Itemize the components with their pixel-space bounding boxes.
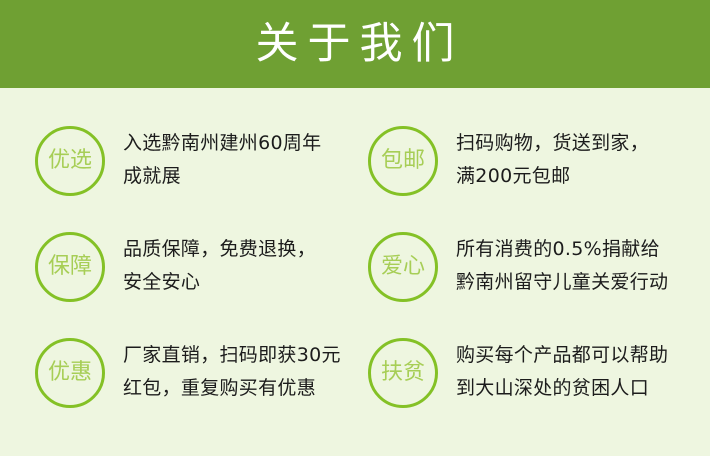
- feature-item-youhui: 优惠 厂家直销，扫码即获30元 红包，重复购买有优惠: [0, 334, 355, 440]
- feature-item-youxuan: 优选 入选黔南州建州60周年 成就展: [0, 122, 355, 228]
- feature-description-line: 扫码购物，货送到家，: [456, 127, 710, 160]
- feature-description-line: 入选黔南州建州60周年: [123, 127, 355, 160]
- feature-description-line: 满200元包邮: [456, 160, 710, 193]
- feature-description-line: 厂家直销，扫码即获30元: [123, 339, 355, 372]
- page-title: 关于我们: [247, 23, 464, 66]
- feature-description-line: 到大山深处的贫困人口: [456, 372, 710, 405]
- feature-grid: 优选 入选黔南州建州60周年 成就展 包邮 扫码购物，货送到家， 满200元包邮…: [0, 88, 710, 456]
- feature-description-line: 所有消费的0.5%捐献给: [456, 233, 710, 266]
- badge-label: 保障: [48, 256, 92, 278]
- badge-label: 优选: [48, 150, 92, 172]
- badge-label: 扶贫: [381, 362, 425, 384]
- feature-description: 品质保障，免费退换， 安全安心: [123, 233, 355, 299]
- feature-description: 购买每个产品都可以帮助 到大山深处的贫困人口: [456, 339, 710, 405]
- feature-description-line: 品质保障，免费退换，: [123, 233, 355, 266]
- feature-description-line: 黔南州留守儿童关爱行动: [456, 266, 710, 299]
- feature-item-aixin: 爱心 所有消费的0.5%捐献给 黔南州留守儿童关爱行动: [355, 228, 710, 334]
- page-header-banner: 关于我们: [0, 0, 710, 88]
- feature-description-line: 购买每个产品都可以帮助: [456, 339, 710, 372]
- badge-label: 优惠: [48, 362, 92, 384]
- feature-description: 所有消费的0.5%捐献给 黔南州留守儿童关爱行动: [456, 233, 710, 299]
- badge-circle-baoyou: 包邮: [368, 126, 438, 196]
- feature-item-fupin: 扶贫 购买每个产品都可以帮助 到大山深处的贫困人口: [355, 334, 710, 440]
- feature-description-line: 安全安心: [123, 266, 355, 299]
- about-us-page: 关于我们 优选 入选黔南州建州60周年 成就展 包邮 扫码购物，货送到家， 满2…: [0, 0, 710, 456]
- badge-label: 包邮: [381, 150, 425, 172]
- feature-description: 入选黔南州建州60周年 成就展: [123, 127, 355, 193]
- feature-item-baozhang: 保障 品质保障，免费退换， 安全安心: [0, 228, 355, 334]
- feature-description: 厂家直销，扫码即获30元 红包，重复购买有优惠: [123, 339, 355, 405]
- badge-label: 爱心: [381, 256, 425, 278]
- feature-description-line: 红包，重复购买有优惠: [123, 372, 355, 405]
- feature-description: 扫码购物，货送到家， 满200元包邮: [456, 127, 710, 193]
- badge-circle-youxuan: 优选: [35, 126, 105, 196]
- badge-circle-aixin: 爱心: [368, 232, 438, 302]
- badge-circle-fupin: 扶贫: [368, 338, 438, 408]
- feature-item-baoyou: 包邮 扫码购物，货送到家， 满200元包邮: [355, 122, 710, 228]
- badge-circle-baozhang: 保障: [35, 232, 105, 302]
- badge-circle-youhui: 优惠: [35, 338, 105, 408]
- feature-description-line: 成就展: [123, 160, 355, 193]
